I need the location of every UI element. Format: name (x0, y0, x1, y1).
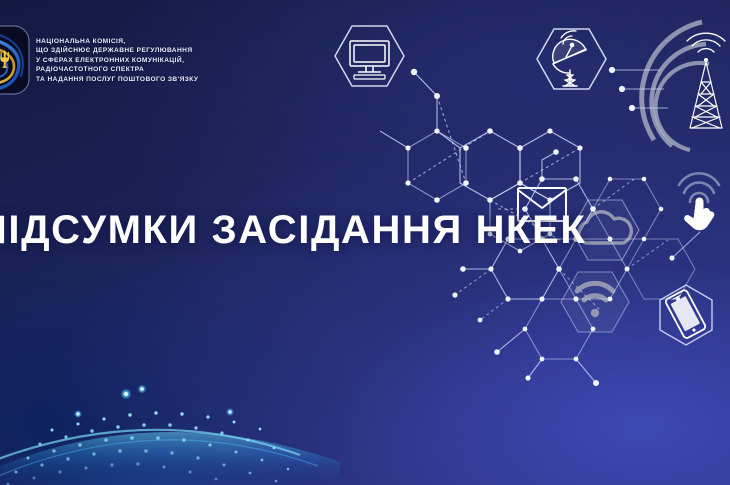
org-line-3: У СФЕРАХ ЕЛЕКТРОННИХ КОМУНІКАЦІЙ, (36, 56, 198, 65)
org-line-5: ТА НАДАННЯ ПОСЛУГ ПОШТОВОГО ЗВ'ЯЗКУ (36, 75, 198, 84)
pointer-hand-icon (669, 173, 719, 260)
radio-tower-icon (609, 22, 725, 150)
org-line-4: РАДІОЧАСТОТНОГО СПЕКТРА (36, 65, 198, 74)
lower-hexagon-lattice (452, 149, 695, 386)
organization-name: НАЦІОНАЛЬНА КОМІСІЯ, ЩО ЗДІЙСНЮЄ ДЕРЖАВН… (36, 37, 198, 84)
org-line-1: НАЦІОНАЛЬНА КОМІСІЯ, (36, 37, 198, 46)
dotted-wave-arc (0, 385, 380, 485)
wifi-icon (561, 272, 629, 332)
smartphone-icon (660, 285, 712, 345)
org-line-2: ЩО ЗДІЙСНЮЄ ДЕРЖАВНЕ РЕГУЛЮВАННЯ (36, 46, 198, 55)
nkek-banner: НАЦІОНАЛЬНА КОМІСІЯ, ЩО ЗДІЙСНЮЄ ДЕРЖАВН… (0, 0, 730, 485)
desktop-monitor-icon (335, 26, 404, 86)
nkek-emblem (0, 24, 30, 96)
banner-header: НАЦІОНАЛЬНА КОМІСІЯ, ЩО ЗДІЙСНЮЄ ДЕРЖАВН… (0, 24, 198, 96)
banner-title: ПІДСУМКИ ЗАСІДАННЯ НКЕК (0, 205, 586, 255)
satellite-dish-icon (537, 29, 606, 89)
